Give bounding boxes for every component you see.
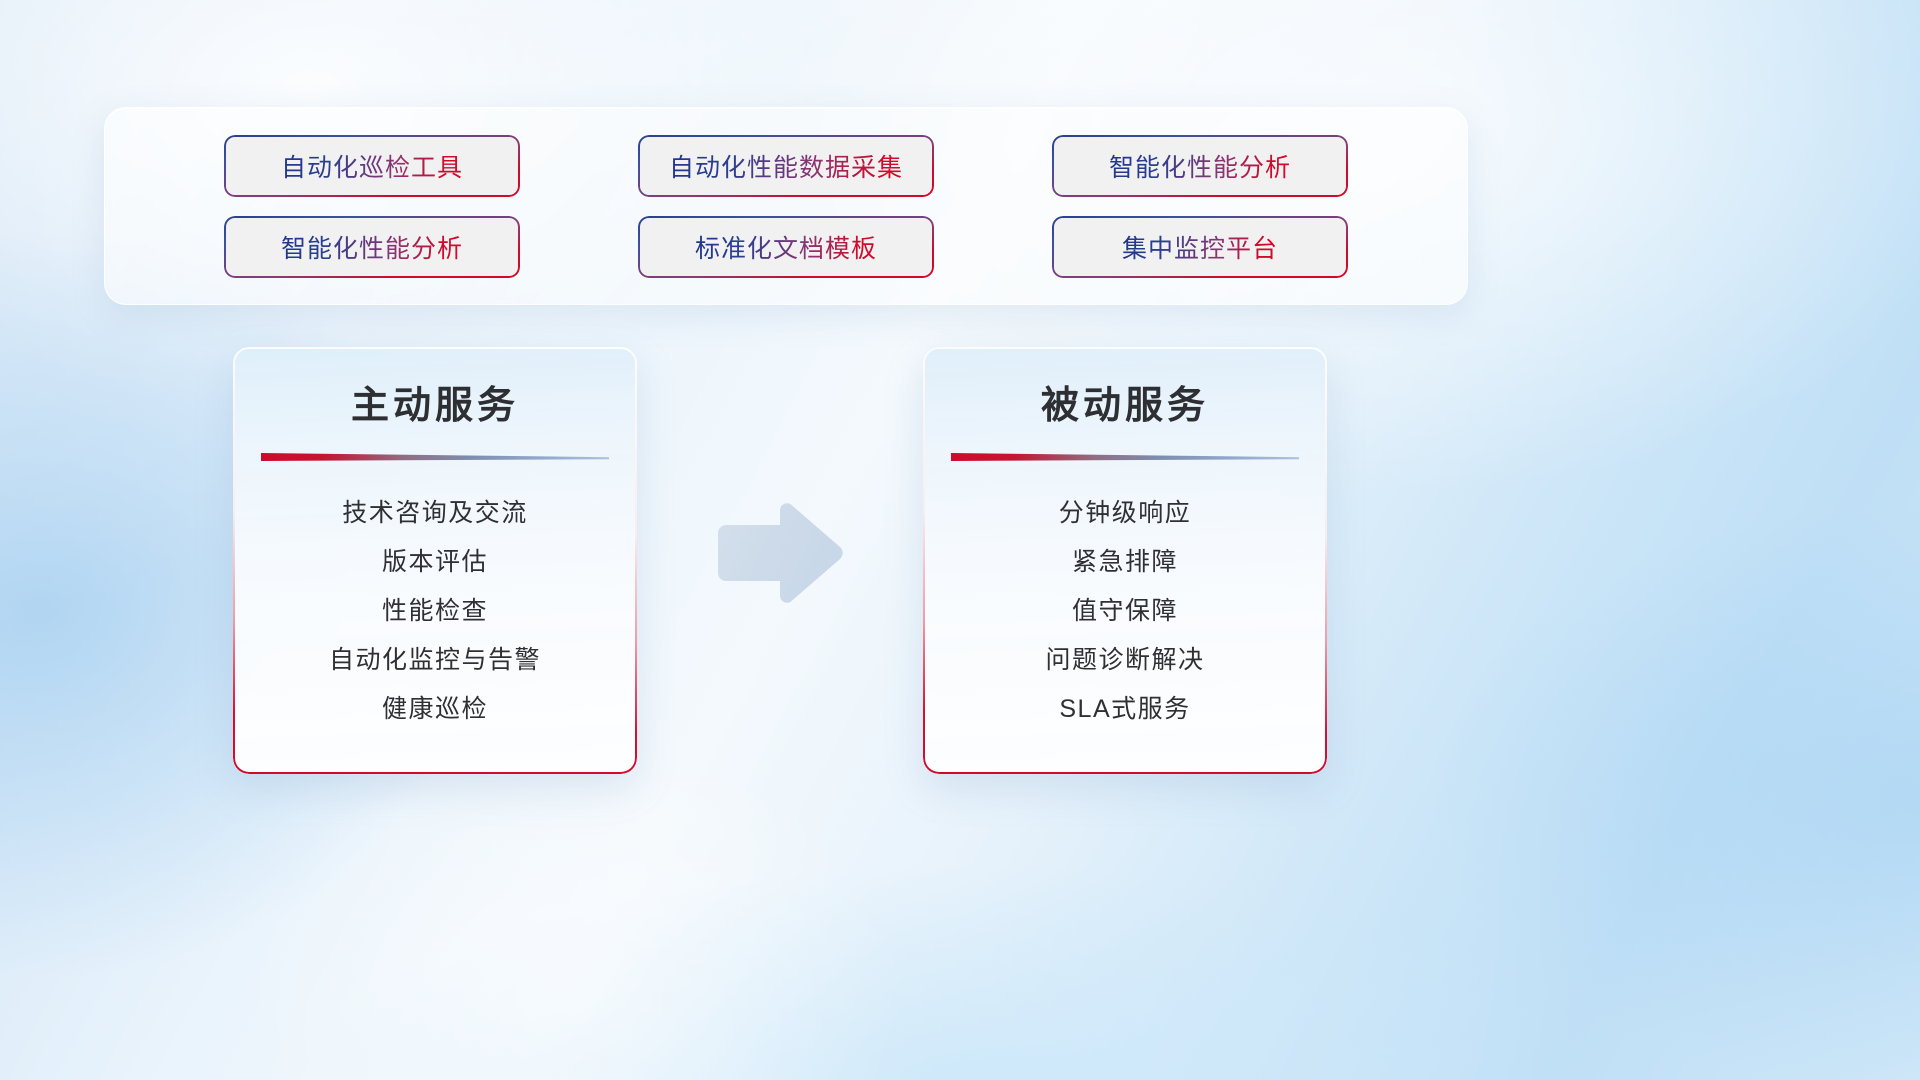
service-item-list: 技术咨询及交流 版本评估 性能检查 自动化监控与告警 健康巡检 xyxy=(233,461,637,734)
service-card-passive: 被动服务 分钟级响应 紧急排障 值守保障 xyxy=(923,347,1327,774)
capability-panel: 自动化巡检工具 自动化性能数据采集 智能化性能分析 智能化性能分析 标准化文档模… xyxy=(104,107,1468,305)
capability-pill-grid: 自动化巡检工具 自动化性能数据采集 智能化性能分析 智能化性能分析 标准化文档模… xyxy=(105,108,1467,304)
card-title: 被动服务 xyxy=(923,347,1327,429)
capability-pill-1[interactable]: 自动化巡检工具 xyxy=(226,137,518,195)
arrow-right-icon xyxy=(712,503,848,603)
service-list-item: 健康巡检 xyxy=(233,685,637,734)
capability-pill-2[interactable]: 自动化性能数据采集 xyxy=(640,137,932,195)
capability-pill-label: 自动化巡检工具 xyxy=(281,148,463,184)
service-card-active: 主动服务 技术咨询及交流 版本评估 性能检查 xyxy=(233,347,637,774)
capability-pill-label: 自动化性能数据采集 xyxy=(669,148,903,184)
capability-pill-3[interactable]: 智能化性能分析 xyxy=(1054,137,1346,195)
card-title: 主动服务 xyxy=(233,347,637,429)
capability-pill-label: 集中监控平台 xyxy=(1122,229,1278,265)
card-divider-gradient-bar xyxy=(261,452,609,461)
capability-pill-label: 标准化文档模板 xyxy=(695,229,877,265)
capability-pill-label: 智能化性能分析 xyxy=(1109,148,1291,184)
service-list-item: SLA式服务 xyxy=(923,685,1327,734)
service-list-item: 值守保障 xyxy=(923,587,1327,636)
capability-pill-4[interactable]: 智能化性能分析 xyxy=(226,218,518,276)
capability-pill-5[interactable]: 标准化文档模板 xyxy=(640,218,932,276)
service-list-item: 问题诊断解决 xyxy=(923,636,1327,685)
service-list-item: 自动化监控与告警 xyxy=(233,636,637,685)
diagram-canvas: 自动化巡检工具 自动化性能数据采集 智能化性能分析 智能化性能分析 标准化文档模… xyxy=(0,0,1920,1080)
service-list-item: 紧急排障 xyxy=(923,538,1327,587)
service-list-item: 分钟级响应 xyxy=(923,489,1327,538)
service-list-item: 技术咨询及交流 xyxy=(233,489,637,538)
capability-pill-6[interactable]: 集中监控平台 xyxy=(1054,218,1346,276)
capability-pill-label: 智能化性能分析 xyxy=(281,229,463,265)
service-list-item: 版本评估 xyxy=(233,538,637,587)
service-list-item: 性能检查 xyxy=(233,587,637,636)
service-item-list: 分钟级响应 紧急排障 值守保障 问题诊断解决 SLA式服务 xyxy=(923,461,1327,734)
card-divider-gradient-bar xyxy=(951,452,1299,461)
